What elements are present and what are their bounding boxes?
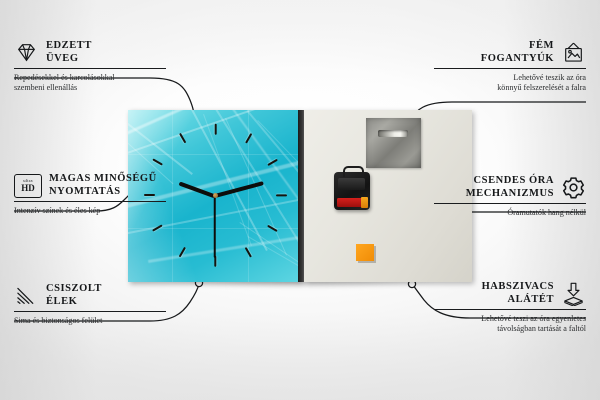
feature-title-line2: FOGANTYÚK bbox=[434, 53, 554, 66]
feature-foam-pad: HABSZIVACS ALÁTÉT Lehetővé teszi az óra … bbox=[434, 281, 586, 334]
feature-subtitle-line2: könnyű felszerelését a falra bbox=[434, 83, 586, 93]
feature-metal-handles: FÉM FOGANTYÚK Lehetővé teszik az óra kön… bbox=[434, 40, 586, 93]
feature-subtitle-line1: Intenzív színek és éles kép bbox=[14, 206, 166, 216]
feature-divider bbox=[14, 68, 166, 69]
feature-title-line2: NYOMTATÁS bbox=[49, 186, 157, 199]
feature-subtitle-line2: távolságban tartását a faltól bbox=[434, 324, 586, 334]
feature-title-line2: ALÁTÉT bbox=[434, 294, 554, 307]
feature-tempered-glass: EDZETT ÜVEG Repedésekkel és karcolásokka… bbox=[14, 40, 166, 93]
feature-title-line1: FÉM bbox=[434, 40, 554, 53]
feature-subtitle-line2: szembeni ellenállás bbox=[14, 83, 166, 93]
gear-icon bbox=[561, 175, 586, 200]
infographic-canvas: EDZETT ÜVEG Repedésekkel és karcolásokka… bbox=[0, 0, 600, 400]
feature-title-line2: MECHANIZMUS bbox=[434, 188, 554, 201]
feature-title-line1: HABSZIVACS bbox=[434, 281, 554, 294]
feature-divider bbox=[434, 203, 586, 204]
feature-divider bbox=[14, 201, 166, 202]
feature-subtitle-line1: Repedésekkel és karcolásokkal bbox=[14, 73, 166, 83]
feature-quiet-mechanism: CSENDES ÓRA MECHANIZMUS Óramutatók hang … bbox=[434, 175, 586, 218]
feature-subtitle-line1: Sima és biztonságos felület bbox=[14, 316, 166, 326]
feature-divider bbox=[14, 311, 166, 312]
feature-title-line2: ÉLEK bbox=[46, 296, 102, 309]
feature-callouts: EDZETT ÜVEG Repedésekkel és karcolásokka… bbox=[0, 0, 600, 400]
feature-title-line1: CSISZOLT bbox=[46, 283, 102, 296]
feature-subtitle-line1: Lehetővé teszi az óra egyenletes bbox=[434, 314, 586, 324]
feature-divider bbox=[434, 309, 586, 310]
feature-title-line1: MAGAS MINŐSÉGŰ bbox=[49, 173, 157, 186]
feature-title-line1: EDZETT bbox=[46, 40, 92, 53]
feature-subtitle-line1: Óramutatók hang nélkül bbox=[434, 208, 586, 218]
ultra-hd-icon-bottom: HD bbox=[21, 183, 35, 193]
feature-title-line1: CSENDES ÓRA bbox=[434, 175, 554, 188]
feature-high-quality-print: ultra HD MAGAS MINŐSÉGŰ NYOMTATÁS Intenz… bbox=[14, 173, 166, 216]
feature-title-line2: ÜVEG bbox=[46, 53, 92, 66]
feature-polished-edges: CSISZOLT ÉLEK Sima és biztonságos felüle… bbox=[14, 283, 166, 326]
foam-pad-icon bbox=[561, 281, 586, 306]
polished-edge-icon bbox=[14, 283, 39, 308]
feature-divider bbox=[434, 68, 586, 69]
feature-subtitle-line1: Lehetővé teszik az óra bbox=[434, 73, 586, 83]
wall-hanging-icon bbox=[561, 40, 586, 65]
diamond-icon bbox=[14, 40, 39, 65]
ultra-hd-icon: ultra HD bbox=[14, 174, 42, 198]
